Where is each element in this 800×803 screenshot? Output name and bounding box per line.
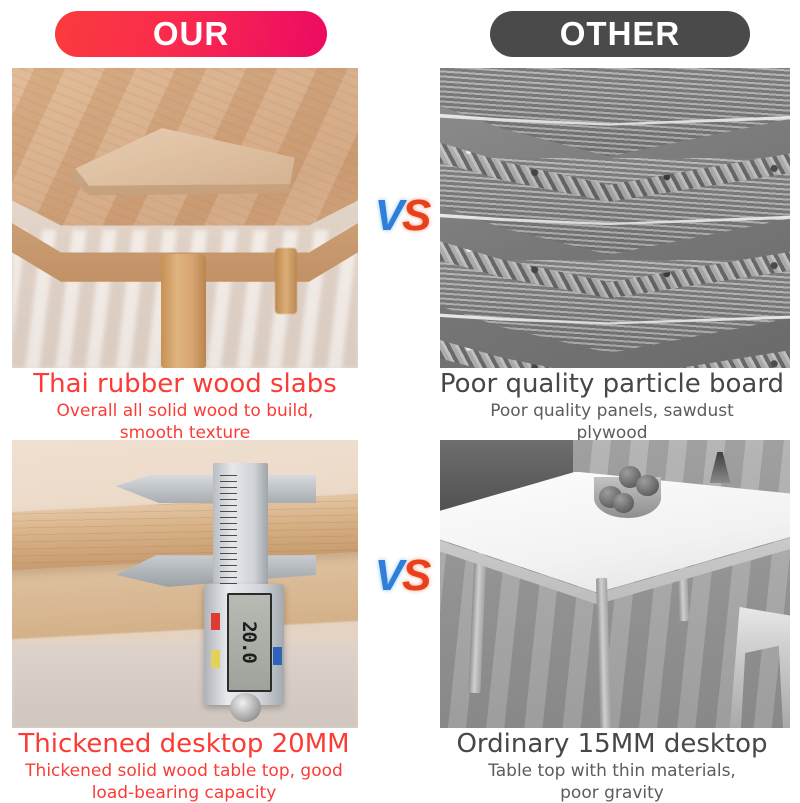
badge-our-label: OUR (153, 15, 229, 53)
badge-our: OUR (55, 11, 327, 57)
vs-badge-bottom: VS (369, 548, 435, 604)
caption-particle-board: Poor quality particle board Poor quality… (432, 370, 792, 443)
caliper-scene: 20.0 (12, 440, 358, 728)
particle-board-scene (440, 68, 790, 368)
caliper-power-button[interactable] (211, 613, 220, 630)
caliper-reading-value: 20.0 (238, 621, 260, 663)
rubber-wood-scene (12, 68, 358, 368)
vs-letter-s: S (402, 194, 429, 238)
caliper-unit-button[interactable] (273, 647, 282, 664)
table-leg-front (161, 254, 206, 368)
caliper-scale-markings (220, 475, 237, 584)
vs-letter-s: S (402, 554, 429, 598)
photo-particle-board (440, 68, 790, 368)
caption-title: Thickened desktop 20MM (8, 730, 360, 759)
caliper-zero-button[interactable] (211, 650, 220, 667)
particle-board-top (440, 68, 790, 218)
caption-thickened-desktop: Thickened desktop 20MM Thickened solid w… (8, 730, 360, 803)
vs-badge-top: VS (369, 188, 435, 244)
caption-subtitle-line1: Overall all solid wood to build, (12, 401, 358, 421)
comparison-infographic: OUR OTHER (0, 0, 800, 800)
vs-letter-v: V (375, 194, 402, 238)
caption-subtitle-line1: Table top with thin materials, (432, 761, 792, 781)
photo-rubber-wood-slab (12, 68, 358, 368)
table-leg-rear (275, 248, 297, 314)
badge-other-label: OTHER (560, 15, 681, 53)
photo-ordinary-desktop (440, 440, 790, 728)
vs-letter-v: V (375, 554, 402, 598)
caption-subtitle-line1: Thickened solid wood table top, good (8, 761, 360, 781)
caliper-lcd-screen: 20.0 (227, 593, 273, 692)
caption-subtitle-line1: Poor quality panels, sawdust (432, 401, 792, 421)
caption-ordinary-desktop: Ordinary 15MM desktop Table top with thi… (432, 730, 792, 803)
board-face (440, 68, 790, 156)
photo-caliper-measurement: 20.0 (12, 440, 358, 728)
fruit-item (636, 475, 659, 497)
caliper-scene-floor (12, 642, 358, 728)
badge-other: OTHER (490, 11, 750, 57)
ordinary-table-scene (440, 440, 790, 728)
caption-rubber-wood: Thai rubber wood slabs Overall all solid… (12, 370, 358, 443)
caption-title: Poor quality particle board (432, 370, 792, 399)
caption-title: Thai rubber wood slabs (12, 370, 358, 399)
caption-title: Ordinary 15MM desktop (432, 730, 792, 759)
